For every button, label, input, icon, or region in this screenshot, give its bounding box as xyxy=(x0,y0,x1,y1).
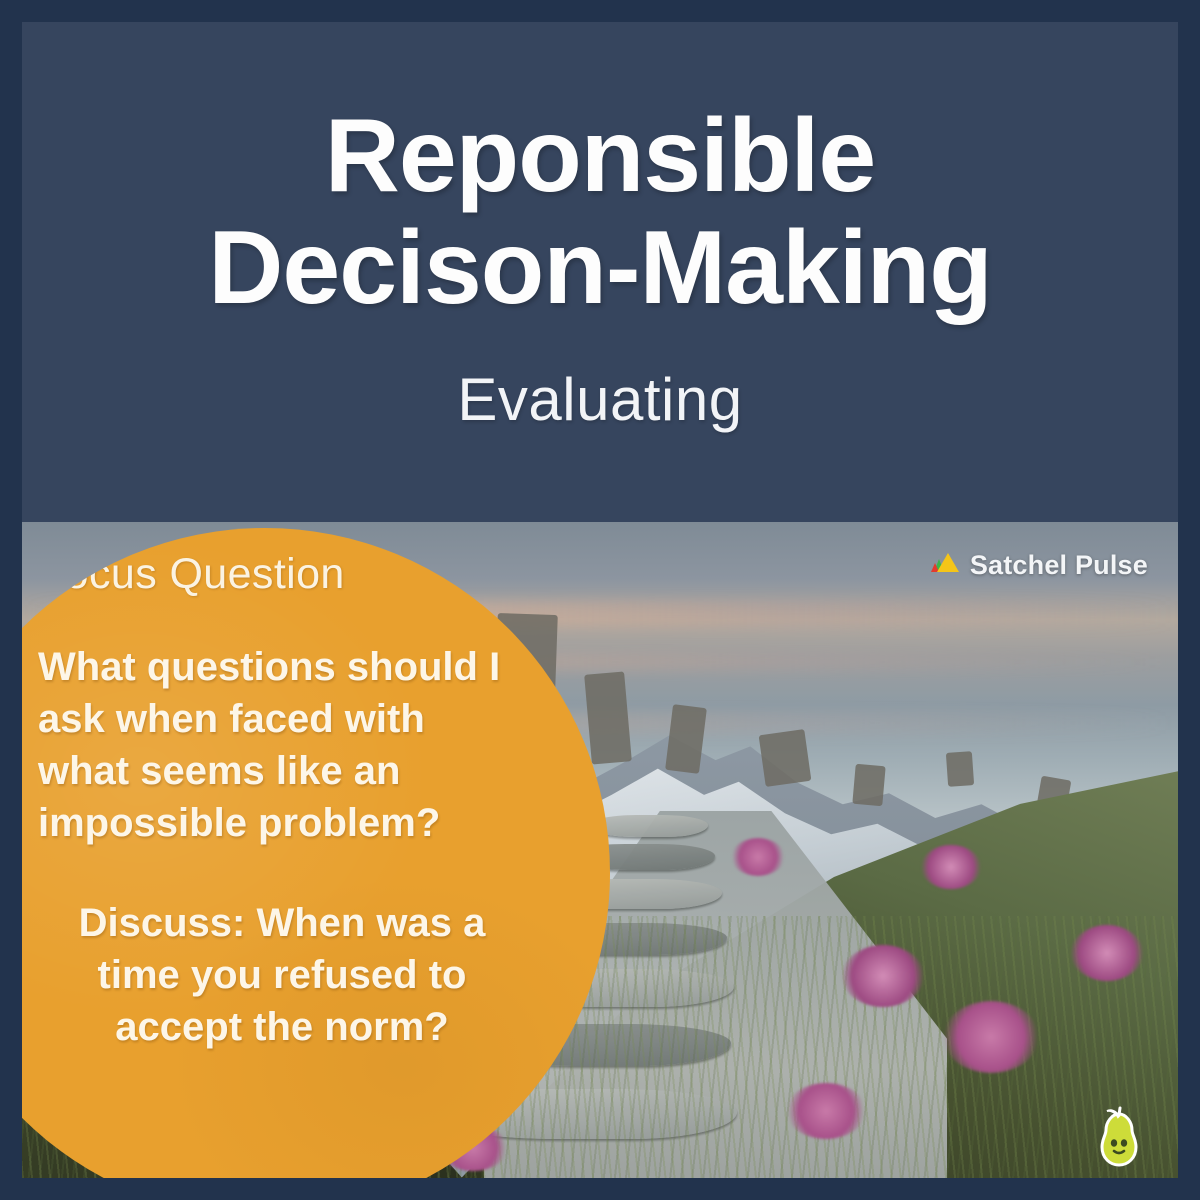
slide-card: Reponsible Decison-Making Evaluating xyxy=(0,0,1200,1200)
heather-flower xyxy=(943,1001,1039,1073)
heather-flower xyxy=(731,838,785,876)
rock-outcrop xyxy=(758,729,811,787)
slide-inner-panel: Reponsible Decison-Making Evaluating xyxy=(22,22,1178,1178)
pear-mascot-icon[interactable] xyxy=(1092,1106,1146,1168)
page-subtitle: Evaluating xyxy=(457,365,742,434)
focus-question-label: Focus Question xyxy=(38,550,516,599)
rock-outcrop xyxy=(853,763,886,805)
rock-outcrop xyxy=(946,751,974,787)
heather-flower xyxy=(842,945,924,1007)
focus-question-content: Focus Question What questions should I a… xyxy=(38,550,516,1053)
page-title: Reponsible Decison-Making xyxy=(100,100,1100,325)
heather-flower xyxy=(786,1083,866,1139)
header-band: Reponsible Decison-Making Evaluating xyxy=(22,22,1178,522)
discuss-prompt-text: Discuss: When was a time you refused to … xyxy=(38,897,516,1053)
mountain-stone-path-photo: Satchel Pulse Focus Question What questi… xyxy=(22,522,1178,1178)
brand-name-label: Satchel Pulse xyxy=(970,550,1148,581)
focus-question-text: What questions should I ask when faced w… xyxy=(38,641,516,849)
triangle-mark-icon xyxy=(930,550,960,581)
brand-logo[interactable]: Satchel Pulse xyxy=(930,550,1148,581)
rock-outcrop xyxy=(585,671,633,764)
